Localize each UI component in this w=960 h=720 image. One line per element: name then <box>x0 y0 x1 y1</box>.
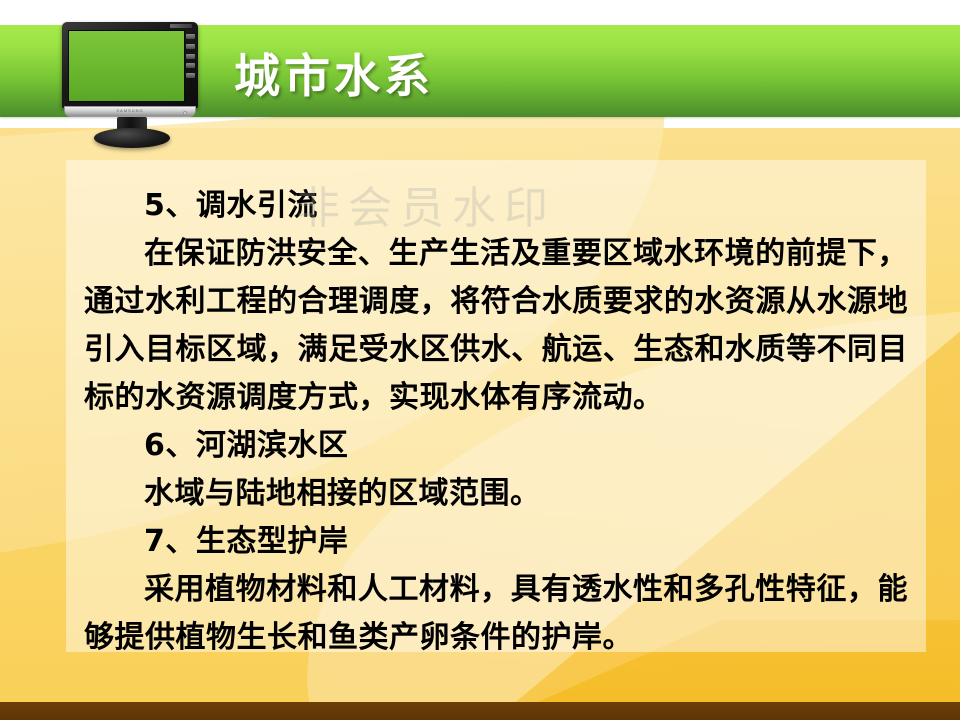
monitor-button-5 <box>186 73 195 78</box>
monitor-screen <box>68 30 185 102</box>
monitor-bezel <box>62 22 198 108</box>
monitor-top-label <box>170 24 192 28</box>
page-title: 城市水系 <box>234 40 434 106</box>
monitor-power-led-icon <box>183 111 187 115</box>
monitor-button-3 <box>186 54 195 59</box>
background-bottom-bar <box>0 702 960 720</box>
monitor-bottom-bezel: SAMSUNG <box>64 106 196 117</box>
monitor-button-4 <box>186 63 195 68</box>
text-block-item-5-heading: 5、调水引流 <box>84 182 908 230</box>
text-block-item-6-heading: 6、河湖滨水区 <box>84 422 908 470</box>
content-body: 5、调水引流 在保证防洪安全、生产生活及重要区域水环境的前提下，通过水利工程的合… <box>66 160 926 652</box>
text-block-item-6-body: 水域与陆地相接的区域范围。 <box>84 470 908 518</box>
monitor-icon: SAMSUNG <box>62 22 202 144</box>
monitor-button-2 <box>186 44 195 49</box>
monitor-button-1 <box>186 34 195 39</box>
text-block-item-5-body: 在保证防洪安全、生产生活及重要区域水环境的前提下，通过水利工程的合理调度，将符合… <box>84 230 908 422</box>
monitor-stand-base <box>94 128 170 148</box>
slide-canvas: 城市水系 SAMSUNG 5、调水引流 在保证防洪安全、生产生活及重要区域水环境… <box>0 0 960 720</box>
monitor-control-buttons <box>186 34 195 78</box>
text-block-item-7-body: 采用植物材料和人工材料，具有透水性和多孔性特征，能够提供植物生长和鱼类产卵条件的… <box>84 566 908 652</box>
monitor-brand-label: SAMSUNG <box>116 108 143 113</box>
content-panel: 5、调水引流 在保证防洪安全、生产生活及重要区域水环境的前提下，通过水利工程的合… <box>66 160 926 652</box>
text-block-item-7-heading: 7、生态型护岸 <box>84 518 908 566</box>
